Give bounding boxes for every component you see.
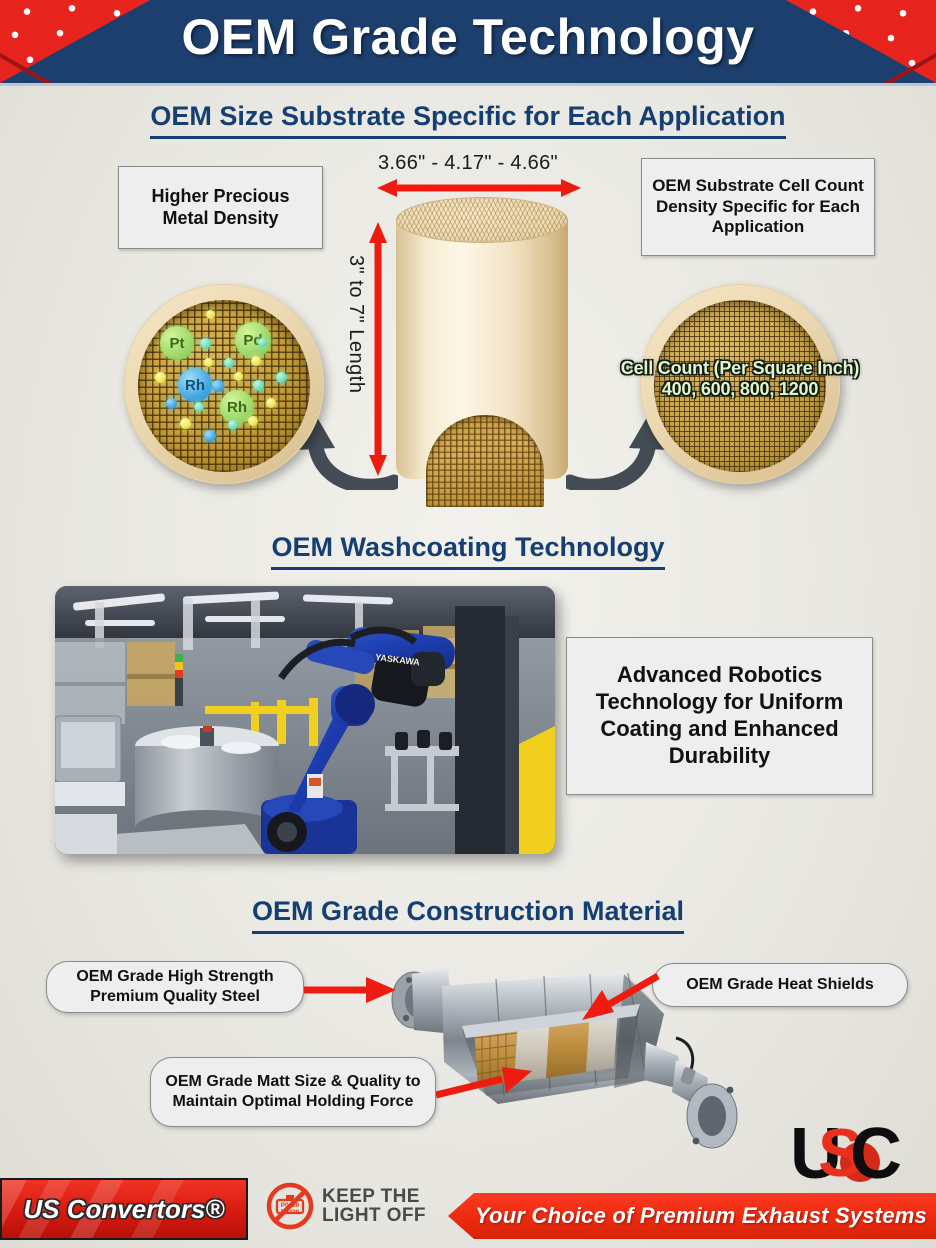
arrow-to-matt xyxy=(436,1065,532,1101)
outlet-flange xyxy=(687,1084,737,1148)
header-divider xyxy=(0,83,936,86)
precious-metal-disc: Pt Pd Rh Rh xyxy=(124,284,324,484)
section-heading-washcoating: OEM Washcoating Technology xyxy=(0,532,936,570)
metal-particle-pt: Pt xyxy=(160,326,194,360)
metal-speck xyxy=(258,338,267,347)
metal-speck xyxy=(251,356,261,366)
callout-heat-shields: OEM Grade Heat Shields xyxy=(652,963,908,1007)
cylinder-top-honeycomb xyxy=(396,197,568,243)
metal-speck xyxy=(212,380,224,392)
metal-speck xyxy=(180,418,191,429)
arrow-to-steel xyxy=(304,976,396,1004)
metal-speck xyxy=(204,358,213,367)
section-heading-construction: OEM Grade Construction Material xyxy=(0,896,936,934)
substrate-cylinder xyxy=(396,197,568,507)
arrow-to-heat-shields xyxy=(582,972,660,1020)
callout-advanced-robotics: Advanced Robotics Technology for Uniform… xyxy=(566,637,873,795)
keep-light-line-1: KEEP THE xyxy=(322,1187,426,1206)
callout-text: Higher Precious Metal Density xyxy=(127,186,314,230)
cell-count-values: 400, 600, 800, 1200 xyxy=(570,379,910,400)
callout-premium-quality-steel: OEM Grade High Strength Premium Quality … xyxy=(46,961,304,1013)
washcoating-robot-photo: YASKAWA xyxy=(55,586,555,854)
callout-text: Advanced Robotics Technology for Uniform… xyxy=(581,662,858,769)
page-footer: US Convertors® P0420 P0430 KEEP THE LIGH… xyxy=(0,1170,936,1248)
metal-speck xyxy=(194,402,204,412)
tagline-text: Your Choice of Premium Exhaust Systems xyxy=(457,1203,927,1229)
metal-speck xyxy=(204,430,216,442)
infographic-page: OEM Grade Technology OEM Size Substrate … xyxy=(0,0,936,1248)
metal-speck xyxy=(224,358,234,368)
us-convertors-brand-badge: US Convertors® xyxy=(0,1178,248,1240)
callout-text: OEM Grade Matt Size & Quality to Maintai… xyxy=(163,1072,423,1112)
metal-particle-rh-blue: Rh xyxy=(178,368,212,402)
metal-speck xyxy=(166,398,177,409)
metal-speck xyxy=(253,380,264,391)
callout-text: OEM Grade High Strength Premium Quality … xyxy=(57,967,293,1007)
dtc-code-p0420: P0420 xyxy=(281,1202,300,1209)
metal-speck xyxy=(228,420,238,430)
metal-speck xyxy=(155,372,166,383)
page-header: OEM Grade Technology xyxy=(0,0,936,83)
cell-count-overlay: Cell Count (Per Square Inch) 400, 600, 8… xyxy=(570,358,910,400)
length-dimension-label: 3" to 7" Length xyxy=(344,255,367,393)
callout-higher-precious-metal-density: Higher Precious Metal Density xyxy=(118,166,323,249)
disc-honeycomb-face: Pt Pd Rh Rh xyxy=(138,300,310,472)
section-heading-substrate: OEM Size Substrate Specific for Each App… xyxy=(0,101,936,139)
keep-the-light-off-badge: P0420 P0430 KEEP THE LIGHT OFF xyxy=(266,1182,426,1230)
brand-name: US Convertors® xyxy=(2,1194,246,1225)
keep-light-off-text: KEEP THE LIGHT OFF xyxy=(322,1187,426,1225)
keep-light-line-2: LIGHT OFF xyxy=(322,1206,426,1225)
metal-speck xyxy=(200,338,211,349)
metal-speck xyxy=(276,372,287,383)
robot-photo-illustration: YASKAWA xyxy=(55,586,555,854)
tagline-banner: Your Choice of Premium Exhaust Systems xyxy=(448,1193,936,1239)
callout-oem-substrate-cell-count: OEM Substrate Cell Count Density Specifi… xyxy=(641,158,875,256)
metal-speck xyxy=(234,372,243,381)
metal-speck xyxy=(266,398,276,408)
cell-count-title: Cell Count (Per Square Inch) xyxy=(570,358,910,379)
diameter-arrow xyxy=(377,178,581,198)
metal-speck xyxy=(248,416,258,426)
page-title: OEM Grade Technology xyxy=(0,8,936,66)
callout-text: OEM Substrate Cell Count Density Specifi… xyxy=(652,176,864,238)
callout-text: OEM Grade Heat Shields xyxy=(686,975,874,995)
dtc-code-p0430: P0430 xyxy=(281,1209,300,1216)
callout-matt-size-quality: OEM Grade Matt Size & Quality to Maintai… xyxy=(150,1057,436,1127)
no-symbol-icon: P0420 P0430 xyxy=(266,1182,314,1230)
diameter-dimension-label: 3.66" - 4.17" - 4.66" xyxy=(378,152,558,175)
metal-speck xyxy=(206,310,215,319)
